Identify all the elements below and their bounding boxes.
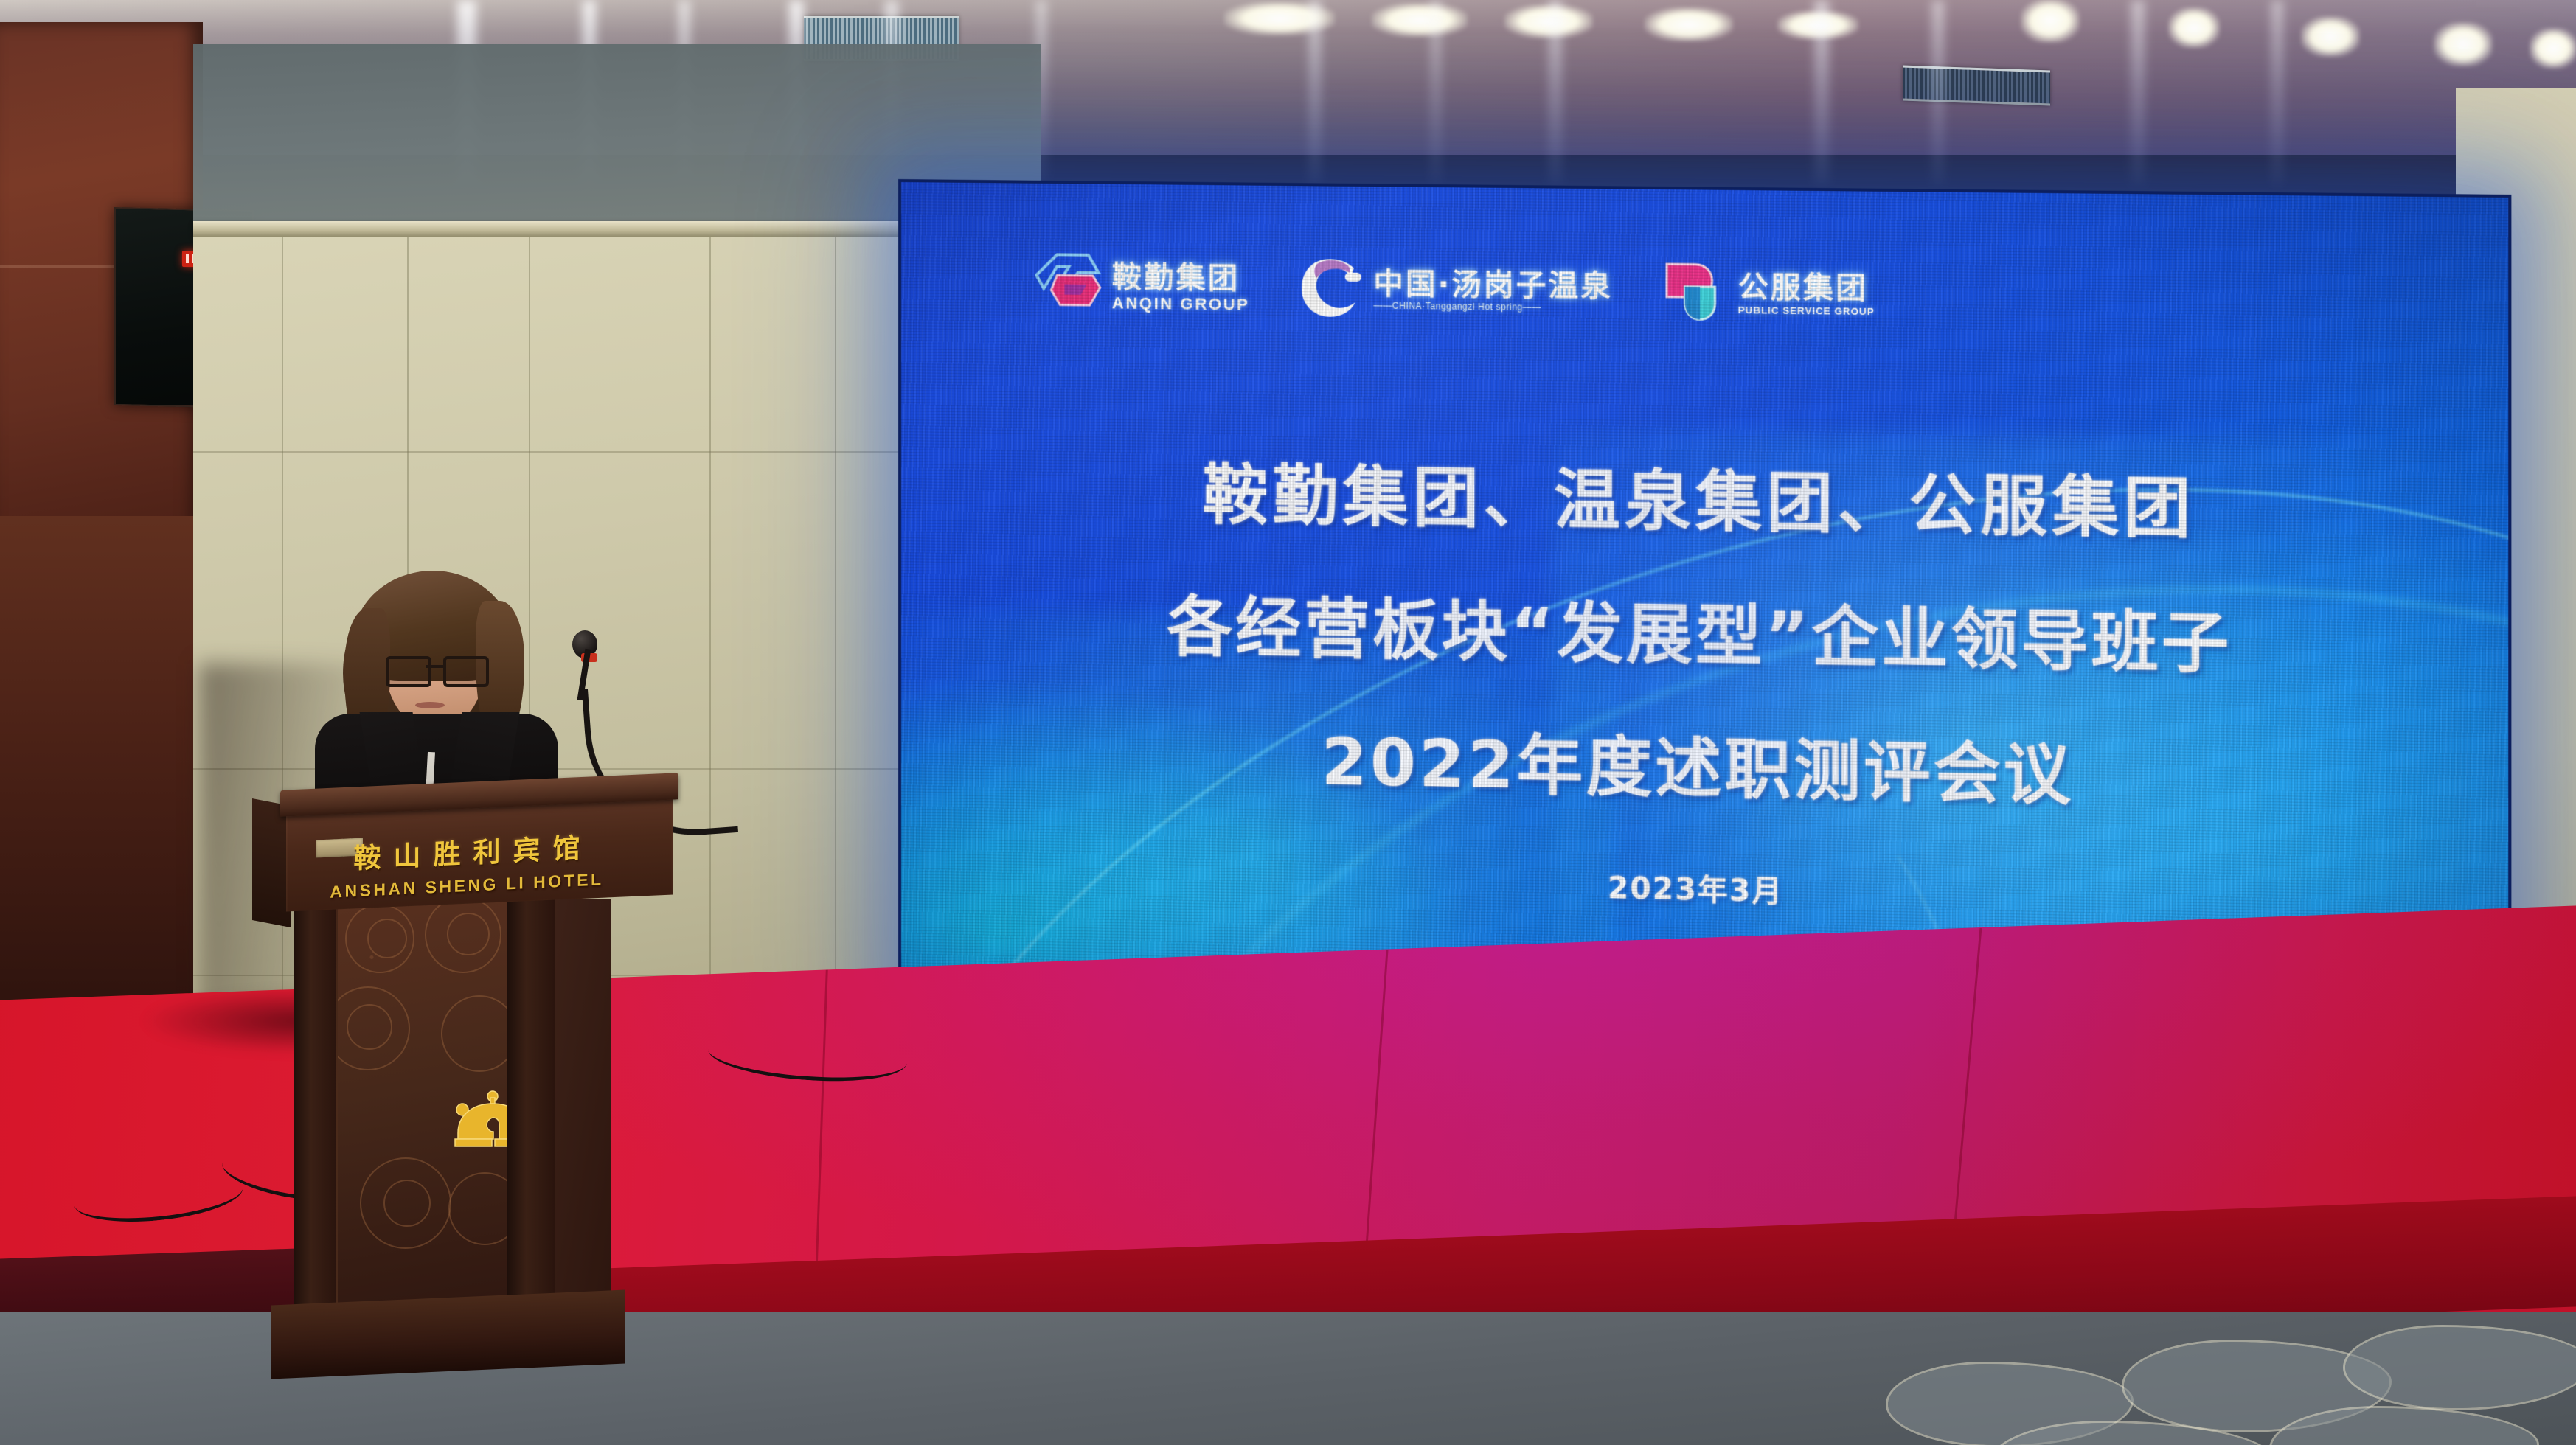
ceiling-light (2168, 7, 2220, 48)
air-vent-right (1903, 66, 2050, 106)
ceiling-light (1645, 7, 1733, 41)
podium-lectern: 鞍山胜利宾馆 ANSHAN SHENG LI HOTEL (184, 781, 678, 1357)
wall-panel-wood-left-lower (0, 516, 214, 1032)
lens-right (443, 656, 489, 687)
podium-base (271, 1290, 625, 1379)
eyeglasses (386, 656, 486, 681)
ceiling-light (2301, 16, 2360, 57)
podium-center-panel (338, 899, 507, 1312)
ceiling-light (2021, 0, 2080, 43)
mouth (415, 702, 445, 708)
ceiling-light (1372, 3, 1468, 37)
ceiling-light (2434, 22, 2493, 66)
podium-body (294, 899, 611, 1357)
podium-side-bevel (252, 798, 291, 927)
lens-left (386, 656, 431, 687)
glasses-bridge (426, 665, 443, 668)
podium-nameplate: 鞍山胜利宾馆 ANSHAN SHENG LI HOTEL (308, 820, 625, 907)
gold-crown-emblem (445, 1087, 507, 1157)
podium-sign-cn: 鞍山胜利宾馆 (341, 825, 593, 877)
conference-hall-photo: 鞍勤集团 ANQIN GROUP 中国·汤岗子温泉 ——CHINA·Tangga… (0, 0, 2576, 1445)
ceiling-light (2530, 28, 2576, 69)
